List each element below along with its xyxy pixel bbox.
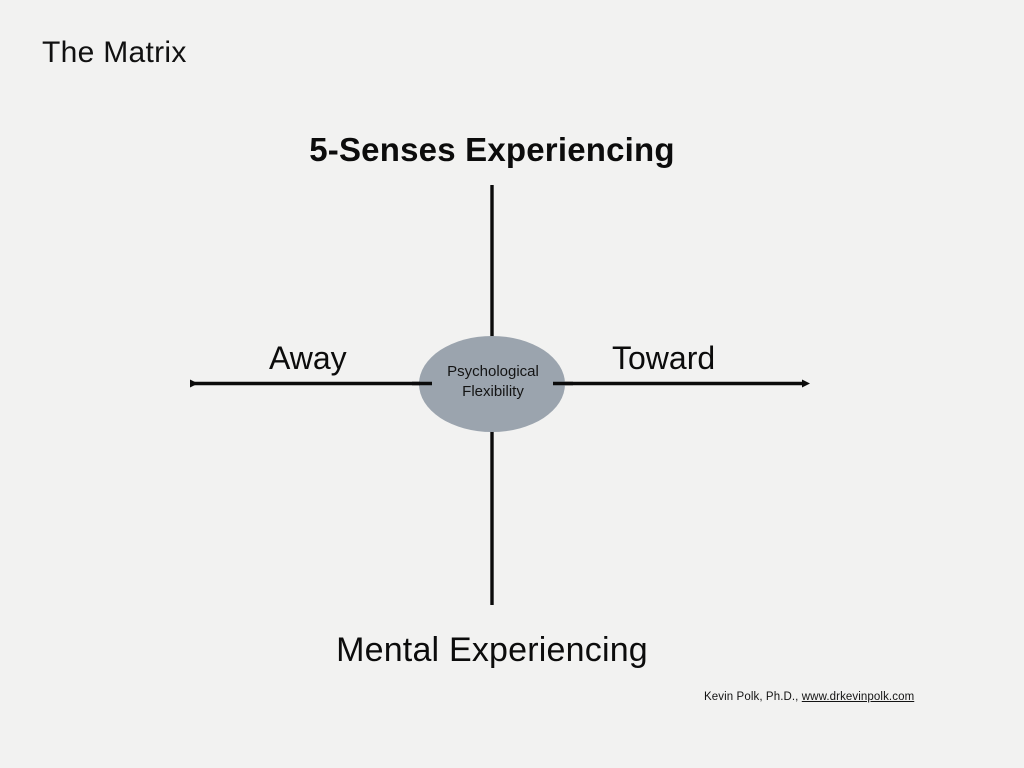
axis-label-bottom: Mental Experiencing	[0, 631, 1004, 670]
center-node-label-line1: Psychological	[420, 362, 566, 382]
credit-url-link[interactable]: www.drkevinpolk.com	[802, 691, 914, 703]
credit-line: Kevin Polk, Ph.D., www.drkevinpolk.com	[704, 691, 914, 703]
center-node-label-line2: Flexibility	[420, 382, 566, 402]
axis-label-top: 5-Senses Experiencing	[0, 131, 1004, 169]
axis-label-right: Toward	[612, 340, 715, 377]
slide-canvas: The Matrix 5-Senses Experiencing Mental …	[0, 0, 1024, 768]
axis-label-left: Away	[269, 340, 347, 377]
center-node-label: Psychological Flexibility	[420, 362, 566, 402]
credit-author: Kevin Polk, Ph.D.,	[704, 691, 802, 703]
